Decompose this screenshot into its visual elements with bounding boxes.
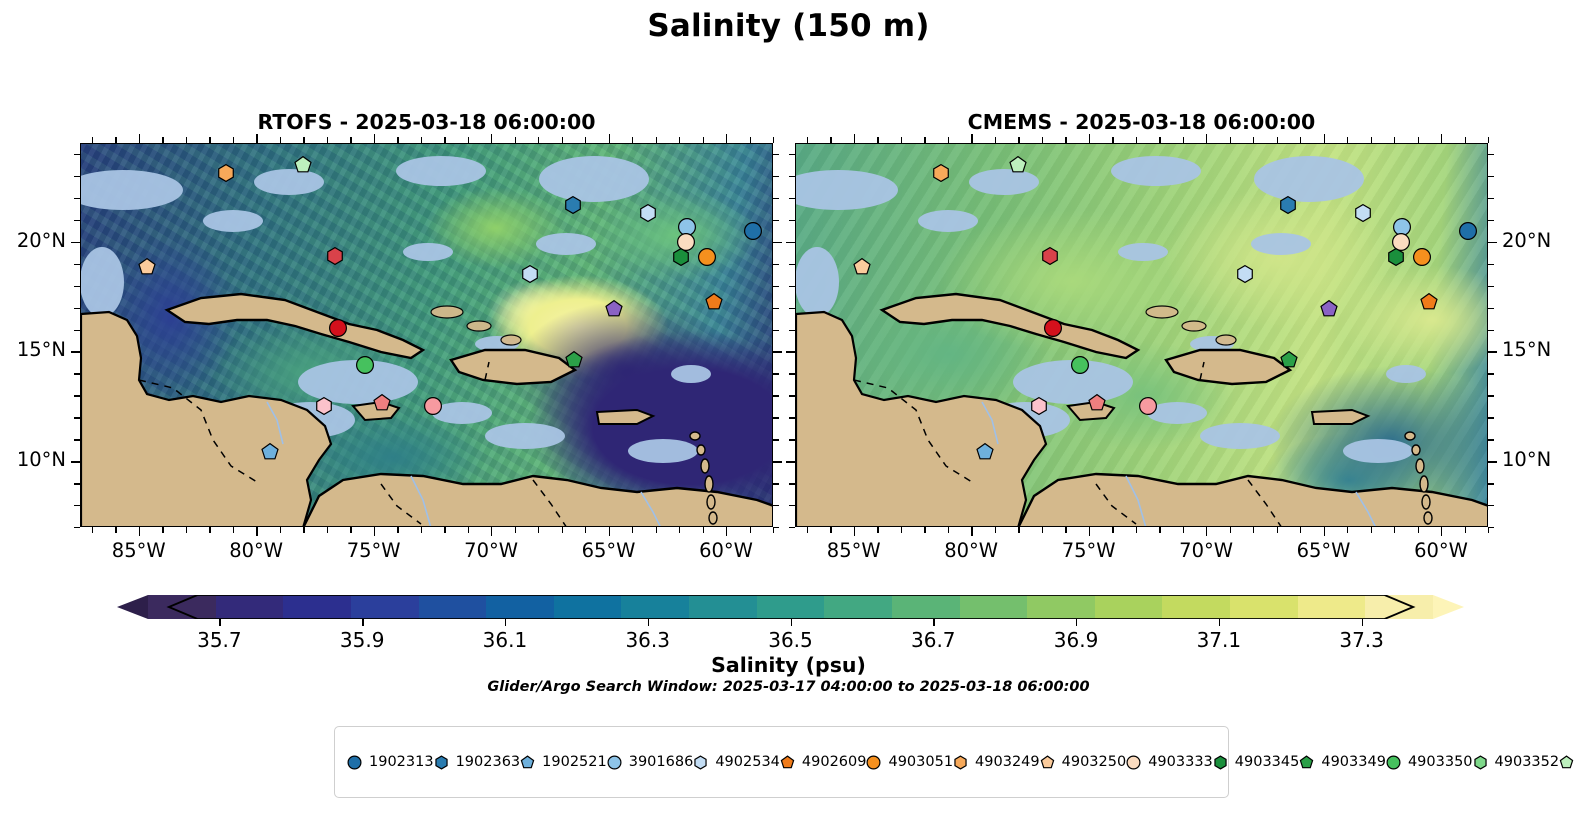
x-tick-top	[924, 137, 925, 143]
colorbar-band-13	[1027, 595, 1095, 619]
map-cmems[interactable]	[795, 143, 1488, 527]
y-tick-right	[773, 242, 782, 243]
panel-cmems: CMEMS - 2025-03-18 06:00:00	[795, 143, 1488, 527]
legend-marker-pentagon-icon	[1040, 755, 1055, 770]
float-marker-4903250[interactable]	[137, 257, 156, 276]
colorbar-tick-1	[362, 619, 363, 626]
colorbar-tick-label-3: 36.3	[625, 628, 670, 652]
x-tick	[877, 527, 878, 533]
legend-marker-hexagon-icon	[1473, 755, 1488, 770]
float-marker-4902609[interactable]	[705, 293, 724, 312]
y-tick-right	[773, 483, 779, 484]
legend-marker-circle-icon	[347, 755, 362, 770]
y-tick-left	[789, 308, 795, 309]
y-tick-left	[74, 417, 80, 418]
panel-rtofs-title: RTOFS - 2025-03-18 06:00:00	[80, 110, 773, 134]
x-tick-top	[186, 137, 187, 143]
float-marker-4902609[interactable]	[1420, 293, 1439, 312]
colorbar-tick-label-2: 36.1	[483, 628, 528, 652]
legend-marker-circle-icon	[607, 755, 622, 770]
x-tick	[1277, 527, 1278, 533]
y-tick-right	[1488, 439, 1494, 440]
x-tick-label-cmems-2: 75°W	[1062, 539, 1116, 562]
float-marker-4903249[interactable]	[931, 163, 950, 182]
colorbar-band-5	[486, 595, 554, 619]
float-marker-4903349[interactable]	[565, 351, 584, 370]
float-marker-4903249[interactable]	[216, 163, 235, 182]
x-tick-top	[726, 134, 727, 143]
y-tick-left	[74, 264, 80, 265]
y-tick-right	[1488, 461, 1497, 462]
y-tick-left	[786, 242, 795, 243]
x-tick	[538, 527, 539, 533]
y-tick-right	[1488, 483, 1494, 484]
y-tick-label-right-2: 10°N	[1502, 448, 1551, 471]
y-tick-left	[789, 220, 795, 221]
x-tick-top	[1324, 134, 1325, 143]
x-tick	[1253, 527, 1254, 533]
y-tick-right	[773, 417, 779, 418]
x-tick-top	[1418, 137, 1419, 143]
float-marker-1902521[interactable]	[976, 443, 995, 462]
legend-item-1902521[interactable]: 1902521	[520, 752, 607, 772]
x-tick	[995, 527, 996, 533]
float-marker-4903768[interactable]	[1030, 397, 1049, 416]
y-tick-left	[74, 176, 80, 177]
x-tick	[515, 527, 516, 533]
x-tick	[1371, 527, 1372, 533]
colorbar-tick-7	[1219, 619, 1220, 626]
x-tick	[1418, 527, 1419, 533]
colorbar-tick-label-0: 35.7	[197, 628, 242, 652]
colorbar-band-1	[216, 595, 284, 619]
y-tick-right	[773, 264, 779, 265]
float-marker-1902363[interactable]	[564, 196, 583, 215]
colorbar-band-18	[1365, 595, 1433, 619]
legend-marker-circle-icon	[866, 755, 881, 770]
y-tick-right	[773, 286, 779, 287]
x-tick	[1183, 527, 1184, 533]
legend-marker-hexagon-icon	[434, 755, 449, 770]
y-tick-right	[773, 373, 779, 374]
x-tick-top	[1488, 137, 1489, 143]
y-tick-left	[74, 505, 80, 506]
legend-marker-hexagon-icon	[953, 755, 968, 770]
float-marker-6903111[interactable]	[605, 299, 624, 318]
colorbar-band-3	[351, 595, 419, 619]
x-tick-top	[1089, 134, 1090, 143]
float-marker-4903768[interactable]	[315, 397, 334, 416]
y-tick-left	[789, 154, 795, 155]
x-tick	[421, 527, 422, 533]
y-tick-right	[1488, 264, 1494, 265]
y-tick-right	[773, 220, 779, 221]
colorbar-tick-label-6: 36.9	[1054, 628, 1099, 652]
legend-marker-circle-icon	[1386, 755, 1401, 770]
y-tick-right	[773, 330, 779, 331]
x-tick-top	[632, 137, 633, 143]
float-marker-1902521[interactable]	[261, 443, 280, 462]
x-tick-top	[703, 137, 704, 143]
x-tick-top	[1112, 137, 1113, 143]
colorbar-band-17	[1298, 595, 1366, 619]
colorbar-tick-6	[1076, 619, 1077, 626]
land-layer-rtofs	[81, 144, 773, 527]
x-tick	[1136, 527, 1137, 533]
legend-item-4903350[interactable]: 4903350	[1386, 752, 1473, 772]
y-tick-right	[1488, 417, 1494, 418]
legend-label-4903352: 4903352	[1495, 754, 1560, 770]
y-tick-right	[1488, 527, 1494, 528]
legend-marker-circle-icon	[1126, 755, 1141, 770]
y-tick-label-left-1: 15°N	[17, 338, 66, 361]
x-tick-label-rtofs-0: 85°W	[112, 539, 166, 562]
x-tick-label-cmems-0: 85°W	[827, 539, 881, 562]
x-tick-top	[491, 134, 492, 143]
x-tick-top	[562, 137, 563, 143]
colorbar-title: Salinity (psu)	[0, 653, 1577, 677]
x-tick-top	[807, 137, 808, 143]
y-tick-left	[74, 373, 80, 374]
x-tick	[303, 527, 304, 533]
x-tick-top	[750, 137, 751, 143]
colorbar: 35.735.936.136.336.536.736.937.137.3 Sal…	[0, 595, 1577, 695]
colorbar-band-15	[1162, 595, 1230, 619]
x-tick	[750, 527, 751, 533]
y-tick-right	[1488, 176, 1494, 177]
x-tick-label-rtofs-4: 65°W	[582, 539, 636, 562]
legend-item-4903051[interactable]: 4903051	[866, 752, 953, 772]
legend-label-4903349: 4903349	[1321, 754, 1386, 770]
y-tick-right	[1488, 308, 1494, 309]
y-tick-right	[1488, 351, 1497, 352]
legend-item-3901686[interactable]: 3901686	[607, 752, 694, 772]
x-tick	[924, 527, 925, 533]
float-marker-4903767[interactable]	[1139, 397, 1158, 416]
y-tick-left	[74, 286, 80, 287]
x-tick-top	[538, 137, 539, 143]
colorbar-tick-4	[791, 619, 792, 626]
x-tick-top	[327, 137, 328, 143]
float-marker-4903250[interactable]	[852, 257, 871, 276]
x-tick	[350, 527, 351, 533]
colorbar-gradient	[148, 595, 1433, 619]
x-tick-top	[1394, 137, 1395, 143]
colorbar-band-11	[892, 595, 960, 619]
x-tick-top	[303, 137, 304, 143]
x-tick-top	[397, 137, 398, 143]
y-tick-right	[773, 395, 779, 396]
x-tick-label-cmems-4: 65°W	[1297, 539, 1351, 562]
float-marker-4903051[interactable]	[1413, 248, 1432, 267]
x-tick-label-rtofs-2: 75°W	[347, 539, 401, 562]
legend-marker-pentagon-icon	[780, 755, 795, 770]
float-marker-4903349[interactable]	[1280, 351, 1299, 370]
y-tick-left	[74, 395, 80, 396]
x-tick	[1206, 527, 1207, 536]
y-tick-right	[773, 308, 779, 309]
float-marker-4903345[interactable]	[672, 248, 691, 267]
legend-item-4903354[interactable]: 4903354	[1559, 752, 1577, 772]
x-tick	[971, 527, 972, 536]
x-tick-label-cmems-3: 70°W	[1179, 539, 1233, 562]
x-tick	[233, 527, 234, 533]
x-tick	[679, 527, 680, 533]
y-tick-left	[789, 198, 795, 199]
legend-item-4902609[interactable]: 4902609	[780, 752, 867, 772]
y-tick-left	[789, 176, 795, 177]
legend-marker-hexagon-icon	[1213, 755, 1228, 770]
y-tick-left	[74, 483, 80, 484]
y-tick-right	[1488, 198, 1494, 199]
float-marker-4903561[interactable]	[325, 246, 344, 265]
x-tick	[444, 527, 445, 533]
y-tick-left	[789, 373, 795, 374]
legend-item-4903352[interactable]: 4903352	[1473, 752, 1560, 772]
y-tick-label-right-0: 20°N	[1502, 229, 1551, 252]
float-marker-4902534b[interactable]	[520, 264, 539, 283]
legend-label-4903350: 4903350	[1408, 754, 1473, 770]
legend-label-4903345: 4903345	[1235, 754, 1300, 770]
legend-label-4903051: 4903051	[888, 754, 953, 770]
x-tick-top	[609, 134, 610, 143]
x-tick	[1042, 527, 1043, 533]
y-tick-left	[71, 351, 80, 352]
x-tick	[92, 527, 93, 533]
x-tick	[1230, 527, 1231, 533]
x-tick-top	[679, 137, 680, 143]
y-tick-left	[74, 330, 80, 331]
legend-label-1902521: 1902521	[542, 754, 607, 770]
float-marker-4903354[interactable]	[294, 155, 313, 174]
x-tick	[1065, 527, 1066, 533]
x-tick	[1159, 527, 1160, 533]
y-tick-right	[773, 505, 779, 506]
float-marker-4903354[interactable]	[1009, 155, 1028, 174]
x-tick	[468, 527, 469, 533]
float-marker-1902363[interactable]	[1279, 196, 1298, 215]
colorbar-tick-5	[933, 619, 934, 626]
colorbar-tick-label-1: 35.9	[340, 628, 385, 652]
y-tick-left	[786, 351, 795, 352]
y-tick-left	[74, 154, 80, 155]
x-tick	[1300, 527, 1301, 533]
legend-item-4903349[interactable]: 4903349	[1299, 752, 1386, 772]
y-tick-left	[74, 439, 80, 440]
x-tick-top	[1253, 137, 1254, 143]
colorbar-band-10	[824, 595, 892, 619]
legend-item-4903249[interactable]: 4903249	[953, 752, 1040, 772]
x-tick-top	[901, 137, 902, 143]
x-tick-label-rtofs-1: 80°W	[229, 539, 283, 562]
x-tick-top	[1300, 137, 1301, 143]
legend-label-1902363: 1902363	[456, 754, 521, 770]
float-marker-4903558[interactable]	[329, 319, 348, 338]
legend-item-1902313[interactable]: 1902313	[347, 752, 434, 772]
x-tick-top	[115, 137, 116, 143]
float-marker-4903558[interactable]	[1044, 319, 1063, 338]
x-tick-top	[1230, 137, 1231, 143]
y-tick-left	[789, 483, 795, 484]
x-tick	[1347, 527, 1348, 533]
x-tick	[948, 527, 949, 533]
y-tick-left	[74, 527, 80, 528]
x-tick-top	[1183, 137, 1184, 143]
x-tick-top	[280, 137, 281, 143]
colorbar-tick-label-5: 36.7	[911, 628, 956, 652]
colorbar-tick-label-8: 37.3	[1339, 628, 1384, 652]
x-tick-top	[1018, 137, 1019, 143]
x-tick-top	[948, 137, 949, 143]
float-marker-4903051[interactable]	[698, 248, 717, 267]
x-tick-top	[421, 137, 422, 143]
x-tick	[609, 527, 610, 536]
x-tick-top	[515, 137, 516, 143]
x-tick	[830, 527, 831, 533]
float-marker-4902534[interactable]	[639, 204, 658, 223]
y-tick-label-left-0: 20°N	[17, 229, 66, 252]
x-tick-top	[1159, 137, 1160, 143]
float-marker-1902313[interactable]	[743, 221, 762, 240]
x-tick-top	[1136, 137, 1137, 143]
x-tick-top	[877, 137, 878, 143]
legend-item-4902534[interactable]: 4902534	[693, 752, 780, 772]
legend-marker-hexagon-icon	[693, 755, 708, 770]
x-tick-top	[162, 137, 163, 143]
y-tick-right	[773, 351, 782, 352]
x-tick-top	[1347, 137, 1348, 143]
x-tick-top	[92, 137, 93, 143]
y-tick-right	[1488, 373, 1494, 374]
legend-label-4902534: 4902534	[715, 754, 780, 770]
x-tick-top	[233, 137, 234, 143]
colorbar-tick-0	[219, 619, 220, 626]
float-marker-4903350[interactable]	[1071, 355, 1090, 374]
x-tick	[139, 527, 140, 536]
x-tick	[1441, 527, 1442, 536]
y-tick-left	[74, 220, 80, 221]
y-tick-right	[1488, 286, 1494, 287]
float-marker-4903345[interactable]	[1387, 248, 1406, 267]
x-tick-top	[585, 137, 586, 143]
legend-marker-pentagon-icon	[520, 755, 535, 770]
x-tick	[632, 527, 633, 533]
x-tick-top	[1206, 134, 1207, 143]
x-tick-top	[468, 137, 469, 143]
search-window-note: Glider/Argo Search Window: 2025-03-17 04…	[0, 679, 1577, 695]
float-marker-4903766[interactable]	[1087, 393, 1106, 412]
x-tick-top	[139, 134, 140, 143]
y-tick-left	[789, 330, 795, 331]
x-tick	[397, 527, 398, 533]
panel-cmems-title: CMEMS - 2025-03-18 06:00:00	[795, 110, 1488, 134]
float-marker-4902534[interactable]	[1354, 204, 1373, 223]
colorbar-band-9	[757, 595, 825, 619]
y-tick-right	[1488, 154, 1494, 155]
legend-item-1902363[interactable]: 1902363	[434, 752, 521, 772]
y-tick-left	[789, 264, 795, 265]
x-tick-top	[350, 137, 351, 143]
x-tick-top	[830, 137, 831, 143]
y-tick-right	[1488, 220, 1494, 221]
y-tick-left	[786, 461, 795, 462]
x-tick	[585, 527, 586, 533]
x-tick	[854, 527, 855, 536]
x-tick-top	[1371, 137, 1372, 143]
x-tick-top	[656, 137, 657, 143]
float-marker-4903767[interactable]	[424, 397, 443, 416]
y-tick-right	[1488, 505, 1494, 506]
panel-rtofs: RTOFS - 2025-03-18 06:00:00	[80, 143, 773, 527]
y-tick-right	[773, 439, 779, 440]
colorbar-tick-3	[648, 619, 649, 626]
x-tick-top	[773, 137, 774, 143]
legend-item-4903250[interactable]: 4903250	[1040, 752, 1127, 772]
float-marker-4903766[interactable]	[372, 393, 391, 412]
x-tick-label-rtofs-5: 60°W	[699, 539, 753, 562]
legend-marker-pentagon-icon	[1299, 755, 1314, 770]
legend-label-3901686: 3901686	[629, 754, 694, 770]
y-tick-right	[773, 198, 779, 199]
x-tick	[1089, 527, 1090, 536]
x-tick	[726, 527, 727, 536]
colorbar-extend-left	[117, 595, 148, 619]
float-marker-4902534b[interactable]	[1235, 264, 1254, 283]
float-marker-4903561[interactable]	[1040, 246, 1059, 265]
y-tick-left	[789, 505, 795, 506]
x-tick	[186, 527, 187, 533]
x-tick	[901, 527, 902, 533]
legend-label-4903250: 4903250	[1062, 754, 1127, 770]
float-marker-6903111[interactable]	[1320, 299, 1339, 318]
x-tick-top	[1042, 137, 1043, 143]
x-tick	[280, 527, 281, 533]
y-tick-right	[1488, 242, 1497, 243]
x-tick-top	[209, 137, 210, 143]
y-tick-right	[773, 176, 779, 177]
y-tick-left	[74, 198, 80, 199]
float-legend[interactable]: 1902313190236319025213901686490253449026…	[334, 726, 1229, 798]
colorbar-band-16	[1230, 595, 1298, 619]
x-tick	[1465, 527, 1466, 533]
colorbar-band-12	[960, 595, 1028, 619]
x-tick-top	[971, 134, 972, 143]
legend-label-1902313: 1902313	[369, 754, 434, 770]
colorbar-tick-label-7: 37.1	[1197, 628, 1242, 652]
legend-marker-pentagon-icon	[1559, 755, 1574, 770]
x-tick	[1018, 527, 1019, 533]
colorbar-band-8	[689, 595, 757, 619]
float-marker-1902313[interactable]	[1458, 221, 1477, 240]
x-tick-top	[1441, 134, 1442, 143]
x-tick-top	[1065, 137, 1066, 143]
x-tick-top	[854, 134, 855, 143]
y-tick-left	[71, 461, 80, 462]
map-rtofs[interactable]	[80, 143, 773, 527]
x-tick-top	[256, 134, 257, 143]
y-tick-left	[789, 286, 795, 287]
x-tick	[1324, 527, 1325, 536]
y-tick-left	[74, 308, 80, 309]
y-tick-left	[789, 439, 795, 440]
y-tick-right	[1488, 330, 1494, 331]
legend-item-4903333[interactable]: 4903333	[1126, 752, 1213, 772]
x-tick-label-cmems-1: 80°W	[944, 539, 998, 562]
float-marker-4903350[interactable]	[356, 355, 375, 374]
x-tick	[491, 527, 492, 536]
colorbar-tick-8	[1362, 619, 1363, 626]
legend-item-4903345[interactable]: 4903345	[1213, 752, 1300, 772]
